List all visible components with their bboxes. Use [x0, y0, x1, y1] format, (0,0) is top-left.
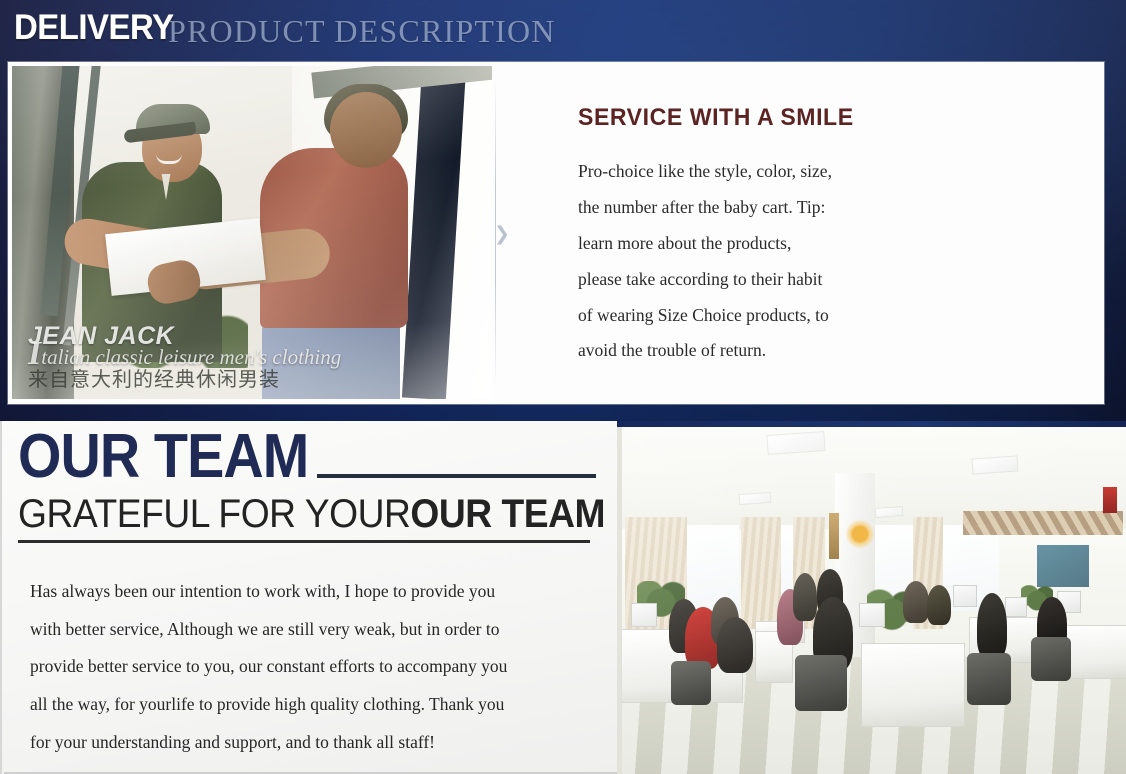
watermark-chinese: 来自意大利的经典休闲男装 — [28, 369, 341, 389]
service-copy-title: SERVICE WITH A SMILE — [578, 104, 1058, 132]
chevron-right-icon: ❯ — [494, 225, 507, 243]
our-team-heading: OUR TEAM GRATEFUL FOR YOUROUR TEAM — [18, 424, 596, 543]
service-copy-line: please take according to their habit — [578, 262, 1078, 298]
product-description-page: DELIVERY PRODUCT DESCRIPTION — [0, 0, 1126, 774]
our-team-body-line: provide better service to you, our const… — [30, 648, 590, 686]
our-team-body-text: Has always been our intention to work wi… — [30, 573, 590, 761]
delivery-section: DELIVERY PRODUCT DESCRIPTION — [0, 0, 1126, 421]
our-team-heading-row1: OUR TEAM — [18, 424, 596, 490]
our-team-subheading-thin: GRATEFUL FOR YOUR — [18, 492, 410, 536]
service-copy-lines: Pro-choice like the style, color, size, … — [578, 154, 1078, 369]
our-team-copy-panel: OUR TEAM GRATEFUL FOR YOUROUR TEAM Has a… — [2, 421, 617, 774]
office-photo — [617, 421, 1126, 774]
watermark-tagline: Italian classic leisure men's clothing — [28, 347, 341, 368]
service-copy-line: Pro-choice like the style, color, size, — [578, 154, 1078, 190]
page-subtitle-product-description: PRODUCT DESCRIPTION — [168, 13, 556, 50]
delivery-content-panel: JEAN JACK Italian classic leisure men's … — [8, 62, 1104, 404]
our-team-heading-row2: GRATEFUL FOR YOUROUR TEAM — [18, 492, 556, 536]
service-copy-block: SERVICE WITH A SMILE Pro-choice like the… — [578, 104, 1078, 369]
service-copy-line: avoid the trouble of return. — [578, 333, 1078, 369]
our-team-subheading-bold: OUR TEAM — [410, 492, 605, 536]
heading-inline-rule — [317, 474, 596, 478]
heading-bottom-rule — [18, 540, 590, 543]
office-photo-glare — [617, 421, 1126, 774]
our-team-body-line: all the way, for yourlife to provide hig… — [30, 686, 590, 724]
service-copy-line: learn more about the products, — [578, 226, 1078, 262]
our-team-section: OUR TEAM GRATEFUL FOR YOUROUR TEAM Has a… — [0, 421, 1126, 774]
our-team-body-line: with better service, Although we are sti… — [30, 611, 590, 649]
header-band: DELIVERY PRODUCT DESCRIPTION — [0, 0, 1126, 62]
delivery-photo: JEAN JACK Italian classic leisure men's … — [12, 66, 492, 399]
office-photo-left-band — [617, 421, 622, 774]
watermark-tagline-text: talian classic leisure men's clothing — [41, 345, 341, 369]
our-team-body-line: for your understanding and support, and … — [30, 724, 590, 762]
our-team-body-line: Has always been our intention to work wi… — [30, 573, 590, 611]
office-photo-top-band — [617, 421, 1126, 427]
page-title-delivery: DELIVERY — [14, 8, 174, 48]
service-copy-line: the number after the baby cart. Tip: — [578, 190, 1078, 226]
service-copy-line: of wearing Size Choice products, to — [578, 298, 1078, 334]
photo-watermark: JEAN JACK Italian classic leisure men's … — [28, 324, 341, 389]
our-team-heading-main: OUR TEAM — [18, 424, 308, 490]
